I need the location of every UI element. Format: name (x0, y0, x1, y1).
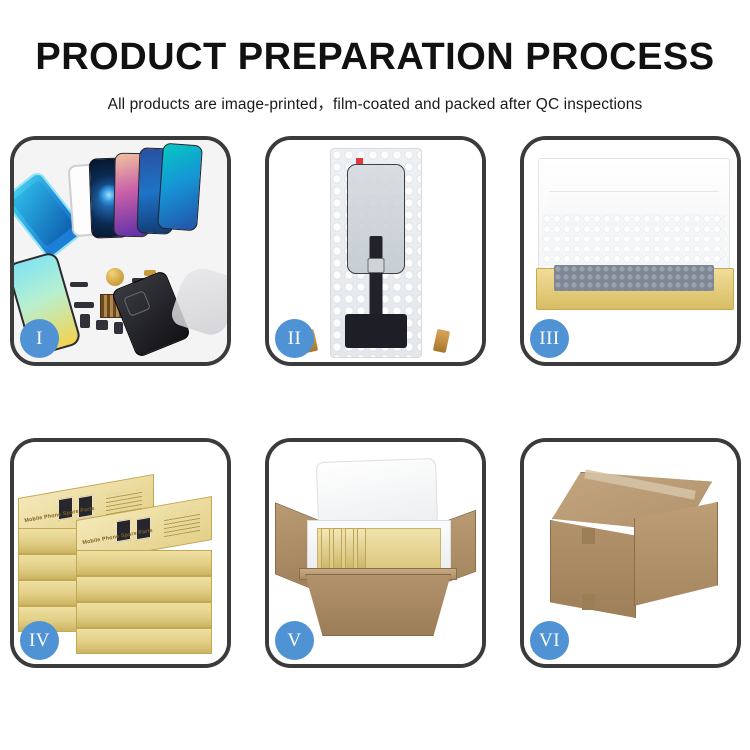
connector-icon (367, 258, 384, 273)
carton-seam-tab-bottom-icon (582, 594, 595, 610)
step-panel-iii[interactable]: III (520, 136, 741, 366)
step-panel-vi[interactable]: VI (520, 438, 741, 668)
gold-contact-right-icon (433, 329, 450, 353)
step-panel-ii[interactable]: II (265, 136, 486, 366)
red-label-icon (356, 158, 363, 164)
step-panel-v[interactable]: V (265, 438, 486, 668)
step-badge-vi: VI (530, 621, 569, 660)
step-badge-ii: II (275, 319, 314, 358)
step-badge-v: V (275, 621, 314, 660)
page-title: PRODUCT PREPARATION PROCESS (0, 0, 750, 76)
header: PRODUCT PREPARATION PROCESS All products… (0, 0, 750, 114)
part-strip-icon (70, 282, 88, 287)
part-camera-icon (114, 322, 123, 334)
foam-padding-icon (542, 214, 726, 268)
box-layer-r3 (76, 602, 212, 628)
box-layer-r4 (76, 628, 212, 654)
box-layer-r1 (76, 550, 212, 576)
part-cable-icon (74, 302, 94, 308)
carton-right-face-icon (634, 502, 718, 606)
gold-box-strip-3 (345, 528, 354, 570)
step-badge-iii: III (530, 319, 569, 358)
box-layer-r2 (76, 576, 212, 602)
steps-grid: I II (8, 136, 742, 740)
step-badge-i: I (20, 319, 59, 358)
bubble-wrap-layer-icon (554, 265, 714, 291)
styrofoam-lid-icon (316, 458, 438, 528)
part-speaker-icon (96, 320, 108, 330)
phone-screen-aqua-icon (157, 143, 203, 232)
page-subtitle: All products are image-printed，film-coat… (0, 76, 750, 114)
steps-row-2: Mobile Phone Spare Parts Mo (8, 438, 742, 672)
carton-body-icon (305, 574, 451, 636)
step-badge-iv: IV (20, 621, 59, 660)
gold-box-strip-2 (333, 528, 342, 570)
steps-row-1: I II (8, 136, 742, 370)
product-preparation-infographic: PRODUCT PREPARATION PROCESS All products… (0, 0, 750, 750)
gold-box-strip-1 (321, 528, 330, 570)
gold-box-strip-4 (357, 528, 366, 570)
screen-footer-board-icon (345, 314, 407, 348)
gold-speaker-icon (106, 268, 124, 286)
carton-seam-tab-top-icon (582, 528, 595, 544)
step-panel-i[interactable]: I (10, 136, 231, 366)
step-panel-iv[interactable]: Mobile Phone Spare Parts Mo (10, 438, 231, 668)
part-button-icon (80, 314, 90, 328)
